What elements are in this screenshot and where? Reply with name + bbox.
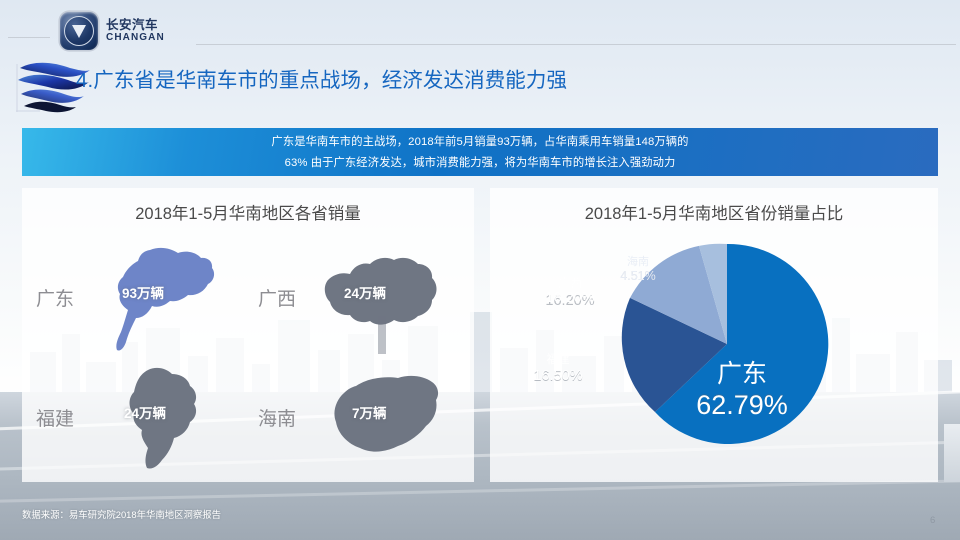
page-number: 6: [930, 515, 935, 526]
province-value-label: 7万辆: [352, 402, 387, 422]
corner-accent: [944, 424, 960, 482]
province-cell-guangdong[interactable]: 广东 93万辆: [22, 240, 248, 360]
left-chart-panel: 2018年1-5月华南地区各省销量 广东 93万辆 广西 24万辆 福建 24万…: [22, 188, 474, 482]
pie-label-name: 海南: [598, 256, 678, 269]
province-value-label: 24万辆: [124, 402, 166, 422]
banner-line-2: 63% 由于广东经济发达，城市消费能力强，将为华南车市的增长注入强劲动力: [22, 153, 938, 174]
brand-logo: 长安汽车 CHANGAN: [60, 12, 165, 50]
province-value-label: 24万辆: [344, 282, 386, 302]
pie-label-guangdong: 广东 62.79%: [682, 360, 802, 421]
pie-label-value: 16.20%: [518, 290, 622, 307]
province-cell-fujian[interactable]: 福建 24万辆: [22, 360, 248, 480]
pie-chart: 62.79% 16.50% 16.20% 4.51% 广东 62.79% 福建 …: [490, 234, 938, 478]
province-name-label: 福建: [36, 404, 74, 431]
logo-ring: [64, 16, 94, 46]
brand-name-cn: 长安汽车: [106, 19, 165, 32]
highlight-banner: 广东是华南车市的主战场，2018年前5月销量93万辆，占华南乘用车销量148万辆…: [22, 128, 938, 176]
changan-shield-icon: [60, 12, 98, 50]
header-divider: [196, 44, 956, 45]
page-title: 4.广东省是华南车市的重点战场，经济发达消费能力强: [76, 66, 776, 95]
slide-root: 长安汽车 CHANGAN 4.广东省是华南车市的重点战场，经济发达消费能力强: [0, 0, 960, 540]
right-panel-title: 2018年1-5月华南地区省份销量占比: [490, 200, 938, 224]
banner-line-1: 广东是华南车市的主战场，2018年前5月销量93万辆，占华南乘用车销量148万辆…: [22, 132, 938, 153]
pie-label-fujian: 福建 16.50%: [506, 354, 610, 385]
pie-label-name: 福建: [506, 354, 610, 368]
brand-logo-text: 长安汽车 CHANGAN: [106, 19, 165, 44]
pie-label-value: 16.50%: [506, 368, 610, 385]
pie-label-name: 广东: [682, 360, 802, 390]
pie-label-value: 62.79%: [682, 390, 802, 422]
pie-label-value: 4.51%: [598, 269, 678, 284]
province-name-label: 海南: [258, 404, 296, 431]
pie-label-hainan: 海南 4.51%: [598, 256, 678, 284]
province-name-label: 广西: [258, 284, 296, 311]
province-cell-hainan[interactable]: 海南 7万辆: [248, 360, 474, 480]
left-panel-title: 2018年1-5月华南地区各省销量: [22, 200, 474, 224]
header-divider-left: [8, 37, 50, 38]
province-cell-guangxi[interactable]: 广西 24万辆: [248, 240, 474, 360]
logo-vee-mark: [72, 25, 86, 38]
province-name-label: 广东: [36, 284, 74, 311]
source-note: 数据来源：易车研究院2018年华南地区洞察报告: [22, 508, 322, 522]
province-value-label: 93万辆: [122, 282, 164, 302]
right-chart-panel: 2018年1-5月华南地区省份销量占比 62.79% 16.50% 16.20%…: [490, 188, 938, 482]
brand-name-en: CHANGAN: [106, 33, 165, 43]
